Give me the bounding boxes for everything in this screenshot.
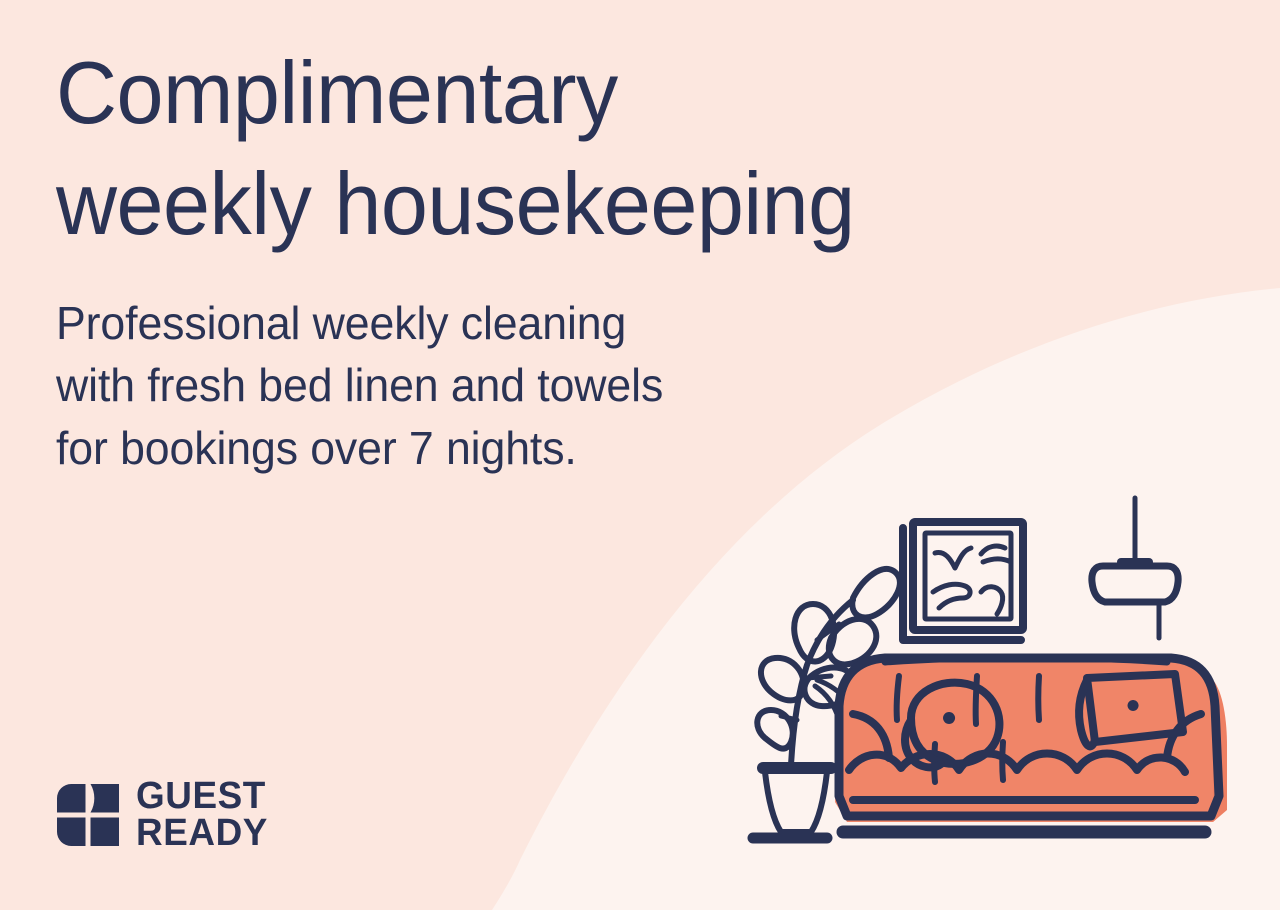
logo-word-guest: GUEST xyxy=(136,778,268,815)
page-title: Complimentary weekly housekeeping xyxy=(56,38,1026,260)
logo-word-ready: READY xyxy=(136,815,268,852)
promo-banner: Complimentary weekly housekeeping Profes… xyxy=(0,0,1280,910)
guestready-logo-mark-icon xyxy=(57,784,119,846)
guestready-logo[interactable]: GUEST READY xyxy=(57,778,272,852)
page-subtitle: Professional weekly cleaning with fresh … xyxy=(56,260,1036,480)
copy-block: Complimentary weekly housekeeping Profes… xyxy=(56,38,1066,479)
living-room-illustration xyxy=(735,480,1255,880)
pendant-lamp-icon xyxy=(1092,498,1178,638)
guestready-wordmark: GUEST READY xyxy=(136,778,272,852)
framed-artwork-icon xyxy=(903,522,1023,640)
sofa-icon xyxy=(835,658,1227,833)
